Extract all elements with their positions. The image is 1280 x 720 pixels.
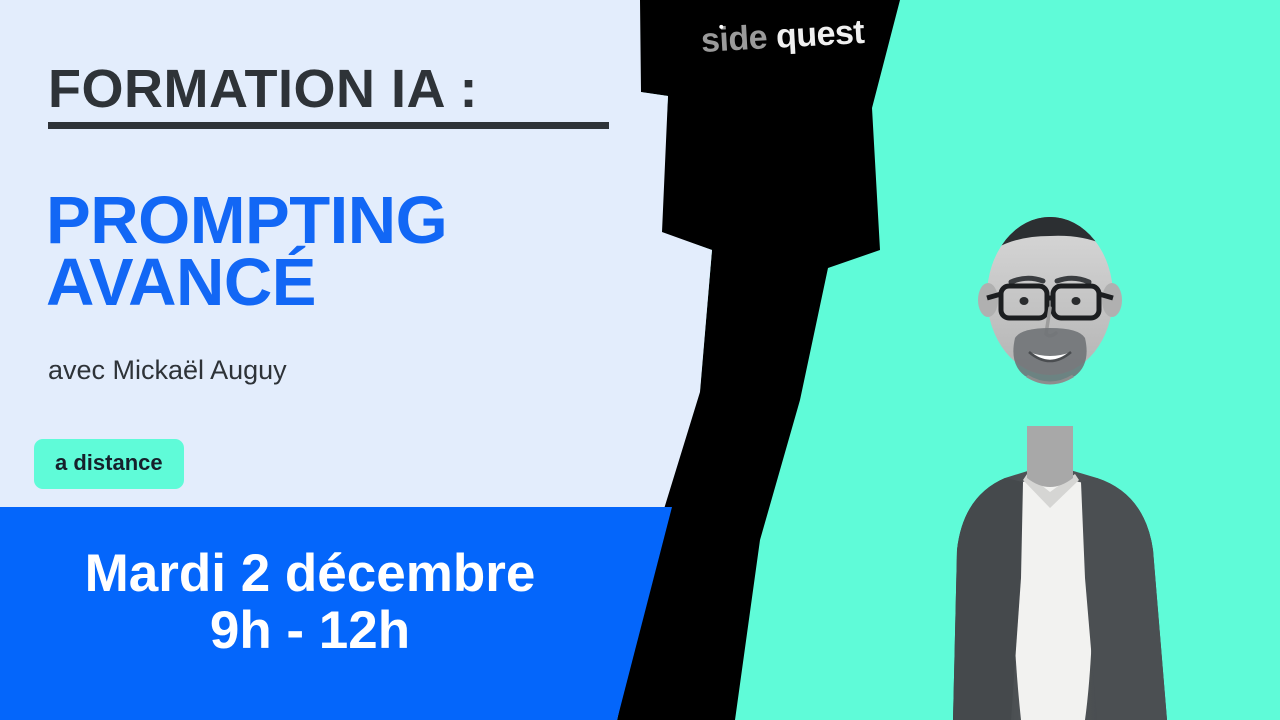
schedule-time: 9h - 12h: [0, 602, 620, 659]
content-area: FORMATION IA : PROMPTING AVANCÉ avec Mic…: [0, 0, 700, 720]
presenter-portrait: [845, 178, 1265, 720]
schedule-block: Mardi 2 décembre 9h - 12h: [0, 545, 620, 659]
format-badge: a distance: [34, 439, 184, 489]
brand-logo-side: side: [700, 18, 768, 60]
kicker-underline: [48, 122, 609, 129]
page-title: PROMPTING AVANCÉ: [46, 190, 447, 315]
brand-logo-quest: quest: [775, 13, 865, 56]
headline-line-2: AVANCÉ: [46, 252, 447, 314]
page-kicker: FORMATION IA :: [48, 58, 478, 120]
presenter-byline: avec Mickaël Auguy: [48, 355, 287, 386]
headline-line-1: PROMPTING: [46, 190, 447, 252]
promo-poster: sidequest FORMATION IA : PROMPTING AVANC…: [0, 0, 1280, 720]
schedule-date: Mardi 2 décembre: [0, 545, 620, 602]
